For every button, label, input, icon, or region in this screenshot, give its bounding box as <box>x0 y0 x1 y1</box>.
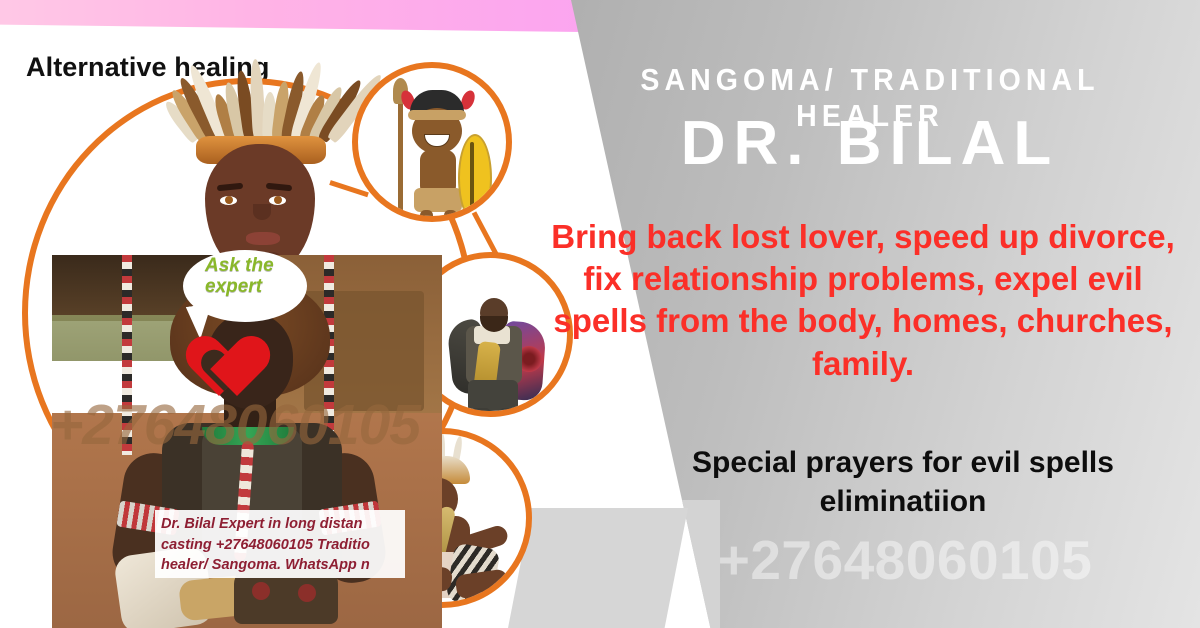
shield-stripe <box>470 142 474 210</box>
warrior-headband <box>408 110 466 120</box>
hero-iris-right <box>274 196 282 204</box>
robed-leg-left <box>472 408 490 417</box>
caption-line-2: casting +27648060105 Traditio <box>161 535 405 556</box>
shield-icon <box>458 134 492 222</box>
caption-line-1: Dr. Bilal Expert in long distan <box>161 514 405 535</box>
warrior-skirt <box>414 188 462 212</box>
pot-dot-1 <box>252 582 270 600</box>
services-text: Bring back lost lover, speed up divorce,… <box>548 216 1178 385</box>
top-pink-band <box>0 0 600 32</box>
speech-bubble-text: Ask the expert <box>205 255 301 298</box>
photo-watermark-phone: +27648060105 <box>50 392 450 458</box>
ad-banner: Alternative healing <box>0 0 1200 628</box>
subheading-text: Special prayers for evil spells eliminat… <box>618 443 1188 521</box>
warrior-leg-left <box>420 210 433 222</box>
hero-iris-left <box>225 196 233 204</box>
photo-caption: Dr. Bilal Expert in long distan casting … <box>155 510 405 578</box>
spear-icon <box>398 86 403 218</box>
healer-name: DR. BILAL <box>560 108 1180 179</box>
caption-line-3: healer/ Sangoma. WhatsApp n <box>161 555 405 576</box>
watermark-phone: +27648060105 <box>620 528 1190 592</box>
pot-dot-2 <box>298 584 316 602</box>
hero-mouth <box>246 232 280 245</box>
robed-leg-right <box>500 408 518 417</box>
hero-nose <box>253 204 271 220</box>
circle-zulu-warrior <box>352 62 512 222</box>
